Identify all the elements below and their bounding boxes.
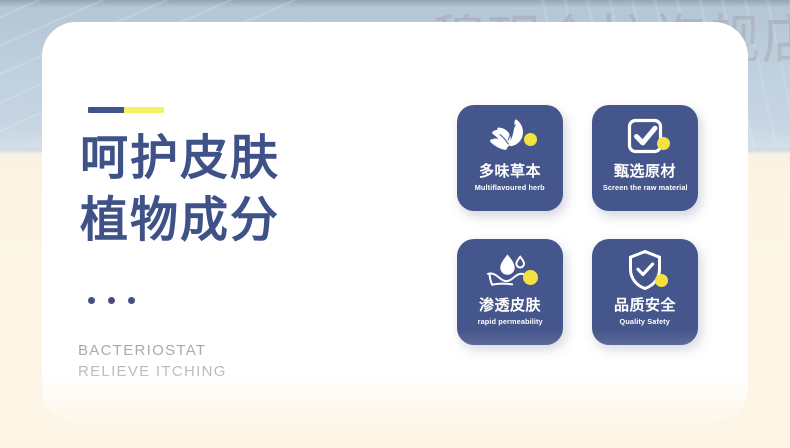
- headline-line-1: 呵护皮肤: [80, 127, 420, 189]
- feature-card-herb[interactable]: 多味草本 Multiflavoured herb: [457, 105, 563, 211]
- accent-dot: [524, 133, 537, 146]
- feature-card-raw-material[interactable]: 甄选原材 Screen the raw material: [592, 105, 698, 211]
- accent-dot: [657, 137, 670, 150]
- dot-1: [88, 297, 95, 304]
- feature-title-en: Screen the raw material: [603, 183, 688, 193]
- feature-title-cn: 渗透皮肤: [479, 296, 541, 314]
- dot-3: [128, 297, 135, 304]
- feature-title-en: rapid permeability: [477, 317, 542, 327]
- card-bottom-fade: [42, 330, 748, 425]
- headline-line-2: 植物成分: [80, 189, 420, 251]
- checkbox-check-icon: [619, 114, 671, 158]
- shield-check-icon: [619, 248, 671, 292]
- accent-dot: [655, 274, 668, 287]
- feature-grid: 多味草本 Multiflavoured herb 甄选原材 Screen the…: [457, 105, 698, 345]
- dot-2: [108, 297, 115, 304]
- page-title: 呵护皮肤 植物成分: [80, 127, 420, 251]
- accent-dot: [523, 270, 538, 285]
- accent-bar-yellow-segment: [124, 107, 164, 113]
- feature-title-cn: 多味草本: [479, 162, 541, 180]
- decorative-dots: [88, 297, 135, 304]
- feature-title-cn: 品质安全: [614, 296, 676, 314]
- promo-banner: 穆玥个护旗舰店 呵护皮肤 植物成分 BACTERIOSTAT RELIEVE I…: [0, 0, 790, 448]
- feature-title-en: Multiflavoured herb: [475, 183, 545, 193]
- leaves-icon: [484, 114, 536, 158]
- feature-title-en: Quality Safety: [620, 317, 670, 327]
- feature-title-cn: 甄选原材: [614, 162, 676, 180]
- accent-bar: [88, 107, 164, 113]
- water-droplet-skin-icon: [484, 248, 536, 292]
- accent-bar-navy-segment: [88, 107, 124, 113]
